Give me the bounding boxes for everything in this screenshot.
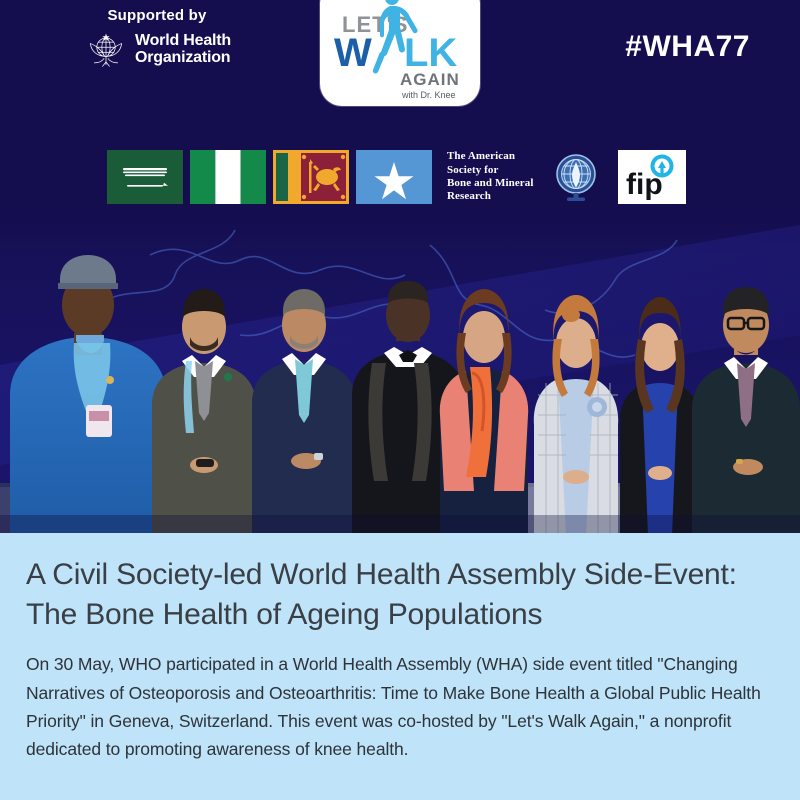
partner-logo-strip: The American Society for Bone and Minera… — [107, 150, 686, 204]
svg-text:with Dr. Knee: with Dr. Knee — [401, 90, 456, 100]
asbmr-wordmark-label: The American Society for Bone and Minera… — [447, 150, 534, 204]
nigeria-flag — [190, 150, 266, 204]
saudi-arabia-flag — [107, 150, 183, 204]
who-name-label: World Health Organization — [135, 33, 231, 67]
somalia-flag — [356, 150, 432, 204]
who-logo: World Health Organization — [62, 27, 252, 73]
caption-panel: A Civil Society-led World Health Assembl… — [0, 533, 800, 800]
svg-text:LK: LK — [404, 31, 457, 75]
lets-walk-again-logo: LET'S W LK AGAIN with Dr. Knee — [320, 0, 480, 106]
page-title: A Civil Society-led World Health Assembl… — [26, 555, 774, 634]
fip-logo: fip — [618, 150, 686, 204]
supported-by-label: Supported by — [62, 8, 252, 23]
header-band: Supported by — [0, 0, 800, 220]
globe-emblem-logo — [553, 150, 599, 204]
social-media-post-card: Supported by — [0, 0, 800, 800]
body-paragraph: On 30 May, WHO participated in a World H… — [26, 650, 774, 763]
who-support-block: Supported by — [62, 8, 252, 84]
sri-lanka-flag — [273, 150, 349, 204]
event-group-photo — [0, 215, 800, 535]
hashtag-label: #WHA77 — [625, 30, 750, 64]
who-emblem-icon — [83, 27, 129, 73]
svg-text:fip: fip — [626, 168, 663, 201]
svg-text:W: W — [334, 31, 372, 75]
asbmr-logo: The American Society for Bone and Minera… — [439, 150, 534, 204]
svg-text:AGAIN: AGAIN — [400, 70, 460, 89]
